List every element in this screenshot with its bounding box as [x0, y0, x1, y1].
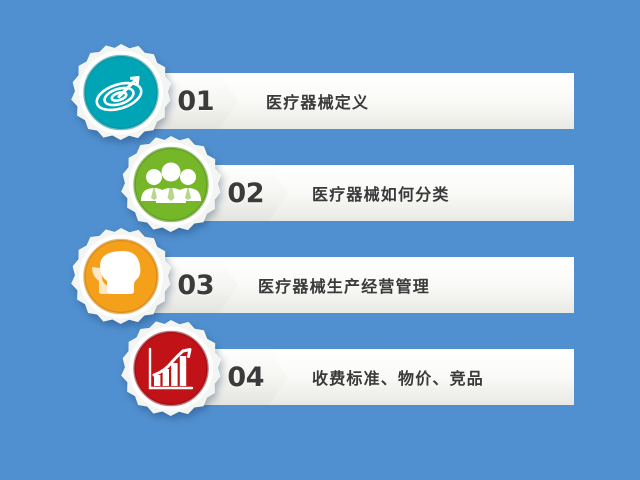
label-bar[interactable]: 医疗器械定义 [210, 73, 574, 129]
item-number: 04 [227, 364, 264, 391]
item-label: 医疗器械如何分类 [312, 181, 450, 205]
gear-icon [71, 228, 171, 324]
slide-canvas: 01 医疗器械定义 [0, 0, 640, 480]
label-bar[interactable]: 医疗器械如何分类 [260, 165, 574, 221]
gear-icon [121, 320, 221, 416]
item-number: 03 [177, 272, 214, 299]
item-number: 01 [177, 88, 214, 115]
item-label: 收费标准、物价、竞品 [312, 365, 484, 389]
item-label: 医疗器械生产经营管理 [258, 273, 430, 297]
item-label: 医疗器械定义 [266, 89, 369, 113]
gear-icon [71, 44, 171, 140]
item-number: 02 [227, 180, 264, 207]
gear-icon [121, 136, 221, 232]
label-bar[interactable]: 收费标准、物价、竞品 [260, 349, 574, 405]
label-bar[interactable]: 医疗器械生产经营管理 [210, 257, 574, 313]
gear-badge-04[interactable] [112, 318, 230, 436]
